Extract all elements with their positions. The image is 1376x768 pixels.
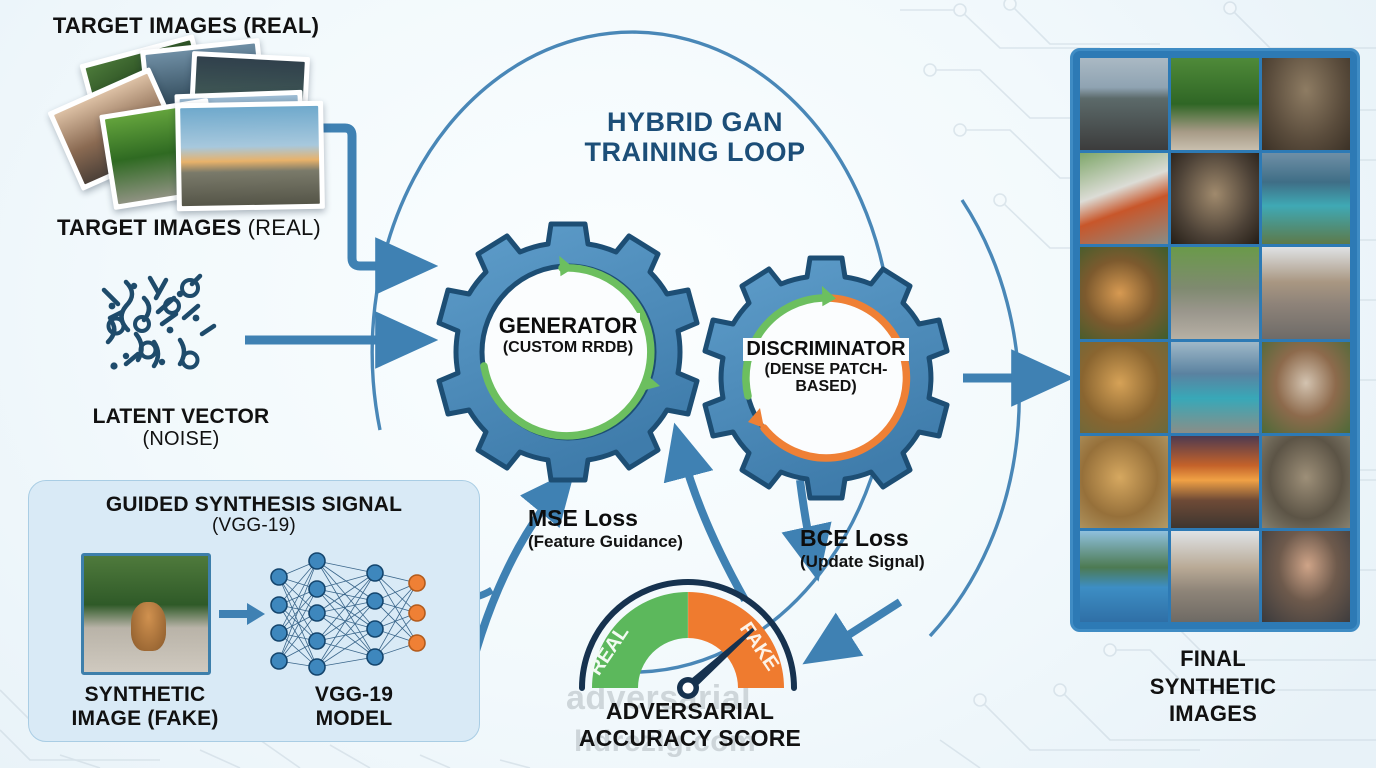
grid-cell-grey-kitten-on-deck (1171, 247, 1259, 339)
grid-cell-lion-savanna (1080, 436, 1168, 528)
grid-cell-white-orange-scooter (1080, 153, 1168, 245)
grid-cell-tabby-cat-portrait (1171, 153, 1259, 245)
grid-cell-forest-path-green (1171, 58, 1259, 150)
guided-synthesis-title: GUIDED SYNTHESIS SIGNAL (VGG-19) (29, 493, 479, 537)
grid-cell-cobblestone-street-alley (1262, 247, 1350, 339)
grid-cell-lighthouse-coastal-road (1080, 58, 1168, 150)
grid-cell-tabby-cat-in-bowl (1262, 58, 1350, 150)
grid-cell-blue-fjord-lake (1080, 531, 1168, 623)
final-caption-line2: SYNTHETIC (1088, 673, 1338, 701)
guided-synthesis-title-main: GUIDED SYNTHESIS SIGNAL (29, 493, 479, 516)
guided-synthesis-panel: GUIDED SYNTHESIS SIGNAL (VGG-19) (28, 480, 480, 742)
grid-cell-brown-white-dog (1262, 342, 1350, 434)
gauge-caption-line2: ACCURACY SCORE (560, 725, 820, 752)
latent-vector-caption: LATENT VECTOR (NOISE) (36, 405, 326, 450)
synthetic-image-caption-line2: IMAGE (FAKE) (43, 707, 247, 731)
arrow-image-to-vgg (219, 599, 265, 629)
mse-loss-name: MSE Loss (528, 505, 748, 532)
loop-title-line1: HYBRID GAN (500, 108, 890, 138)
vgg19-model-caption: VGG-19 MODEL (261, 683, 447, 731)
loop-title-line2: TRAINING LOOP (500, 138, 890, 168)
grid-cell-tabby-cat-resting (1262, 436, 1350, 528)
grid-cell-ginger-cat-garden (1080, 247, 1168, 339)
arrow-loop-to-gauge (828, 602, 900, 648)
grid-cell-european-street-people (1171, 531, 1259, 623)
synthetic-image-caption-line1: SYNTHETIC (43, 683, 247, 707)
generator-gear[interactable]: GENERATOR (CUSTOM RRDB) (434, 218, 702, 486)
vgg19-model-caption-line2: MODEL (261, 707, 447, 731)
bce-loss-subtitle: (Update Signal) (800, 552, 1000, 572)
synthetic-images-grid (1080, 58, 1350, 622)
grid-cell-orange-sunset-lake (1171, 436, 1259, 528)
target-images-title-bottom: TARGET IMAGES (REAL) (24, 216, 354, 240)
synthetic-image-thumbnail (81, 553, 211, 675)
discriminator-gear[interactable]: DISCRIMINATOR (DENSE PATCH- BASED) (700, 252, 952, 504)
target-images-light: (REAL) (248, 215, 321, 240)
grid-cell-mountain-lake-turquoise (1262, 153, 1350, 245)
final-synthetic-images-panel (1070, 48, 1360, 632)
vgg19-network-icon (265, 551, 439, 679)
target-images-bold: TARGET IMAGES (57, 215, 248, 240)
latent-vector-label: LATENT VECTOR (36, 405, 326, 428)
vgg19-model-caption-line1: VGG-19 (261, 683, 447, 707)
target-images-title-top: TARGET IMAGES (REAL) (36, 14, 336, 38)
bce-loss-label: BCE Loss (Update Signal) (800, 525, 1000, 572)
guided-synthesis-subtitle: (VGG-19) (29, 516, 479, 537)
final-caption-line1: FINAL (1088, 645, 1338, 673)
diagram-canvas: TARGET IMAGES (REAL) TARGET IMAGES (REAL… (0, 0, 1376, 768)
final-synthetic-images-caption: FINAL SYNTHETIC IMAGES (1088, 645, 1338, 728)
gauge-caption-line1: ADVERSARIAL (560, 698, 820, 725)
grid-cell-man-portrait (1262, 531, 1350, 623)
grid-cell-golden-labrador-field (1080, 342, 1168, 434)
mse-loss-subtitle: (Feature Guidance) (528, 532, 748, 552)
adversarial-accuracy-gauge: REAL FAKE (566, 576, 810, 696)
synthetic-image-caption: SYNTHETIC IMAGE (FAKE) (43, 683, 247, 731)
gauge-caption: ADVERSARIAL ACCURACY SCORE (560, 698, 820, 751)
target-images-photo-stack (58, 44, 318, 216)
latent-vector-icon (96, 268, 236, 388)
mse-loss-label: MSE Loss (Feature Guidance) (528, 505, 748, 552)
bce-loss-name: BCE Loss (800, 525, 1000, 552)
latent-vector-sub: (NOISE) (36, 428, 326, 450)
final-caption-line3: IMAGES (1088, 700, 1338, 728)
page-title: HYBRID GAN TRAINING LOOP (500, 108, 890, 167)
grid-cell-alpine-lake-rocks (1171, 342, 1259, 434)
